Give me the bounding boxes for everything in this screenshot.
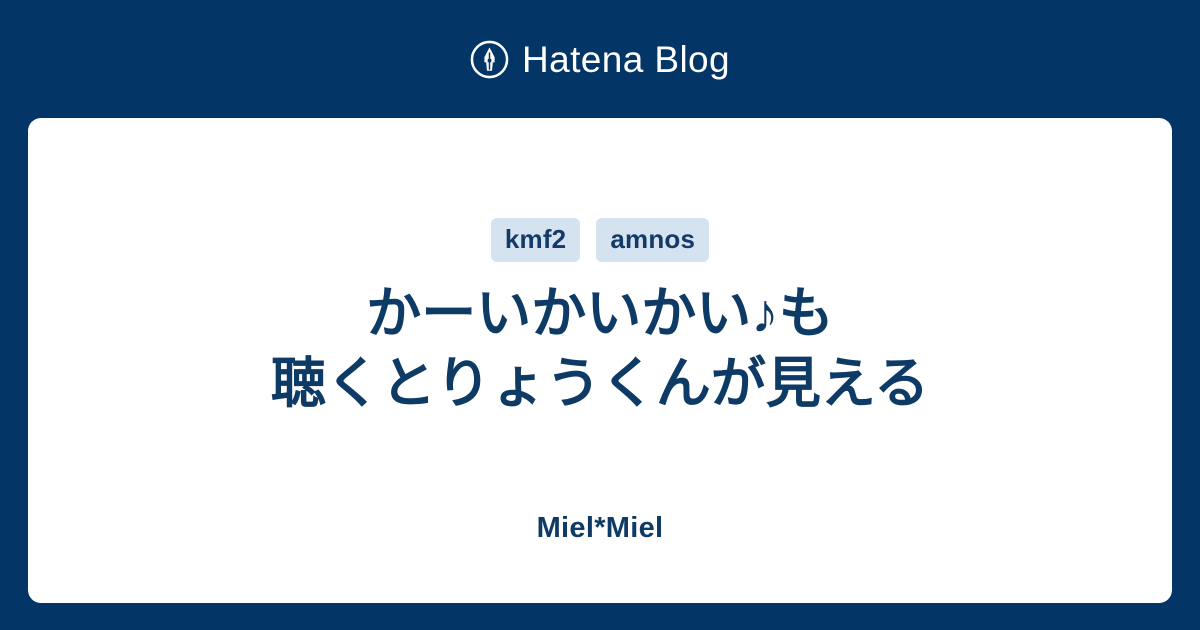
entry-title-line-2: 聴くとりょうくんが見える: [78, 348, 1122, 418]
entry-card: kmf2 amnos かーいかいかい♪も 聴くとりょうくんが見える Miel*M…: [28, 118, 1172, 603]
entry-tag-list: kmf2 amnos: [28, 218, 1172, 262]
entry-title: かーいかいかい♪も 聴くとりょうくんが見える: [78, 278, 1122, 418]
hatena-blog-service-name: Hatena Blog: [522, 40, 730, 79]
entry-card-inner: kmf2 amnos かーいかいかい♪も 聴くとりょうくんが見える Miel*M…: [28, 118, 1172, 603]
hatena-blog-og-card: Hatena Blog kmf2 amnos かーいかいかい♪も 聴くとりょうく…: [0, 0, 1200, 630]
hatena-blog-brand: Hatena Blog: [0, 0, 1200, 118]
entry-tag-amnos[interactable]: amnos: [596, 218, 709, 262]
entry-tag-kmf2[interactable]: kmf2: [491, 218, 581, 262]
blog-name[interactable]: Miel*Miel: [28, 510, 1172, 546]
entry-title-line-1: かーいかいかい♪も: [78, 278, 1122, 348]
hatena-pen-nib-icon: [470, 40, 509, 79]
